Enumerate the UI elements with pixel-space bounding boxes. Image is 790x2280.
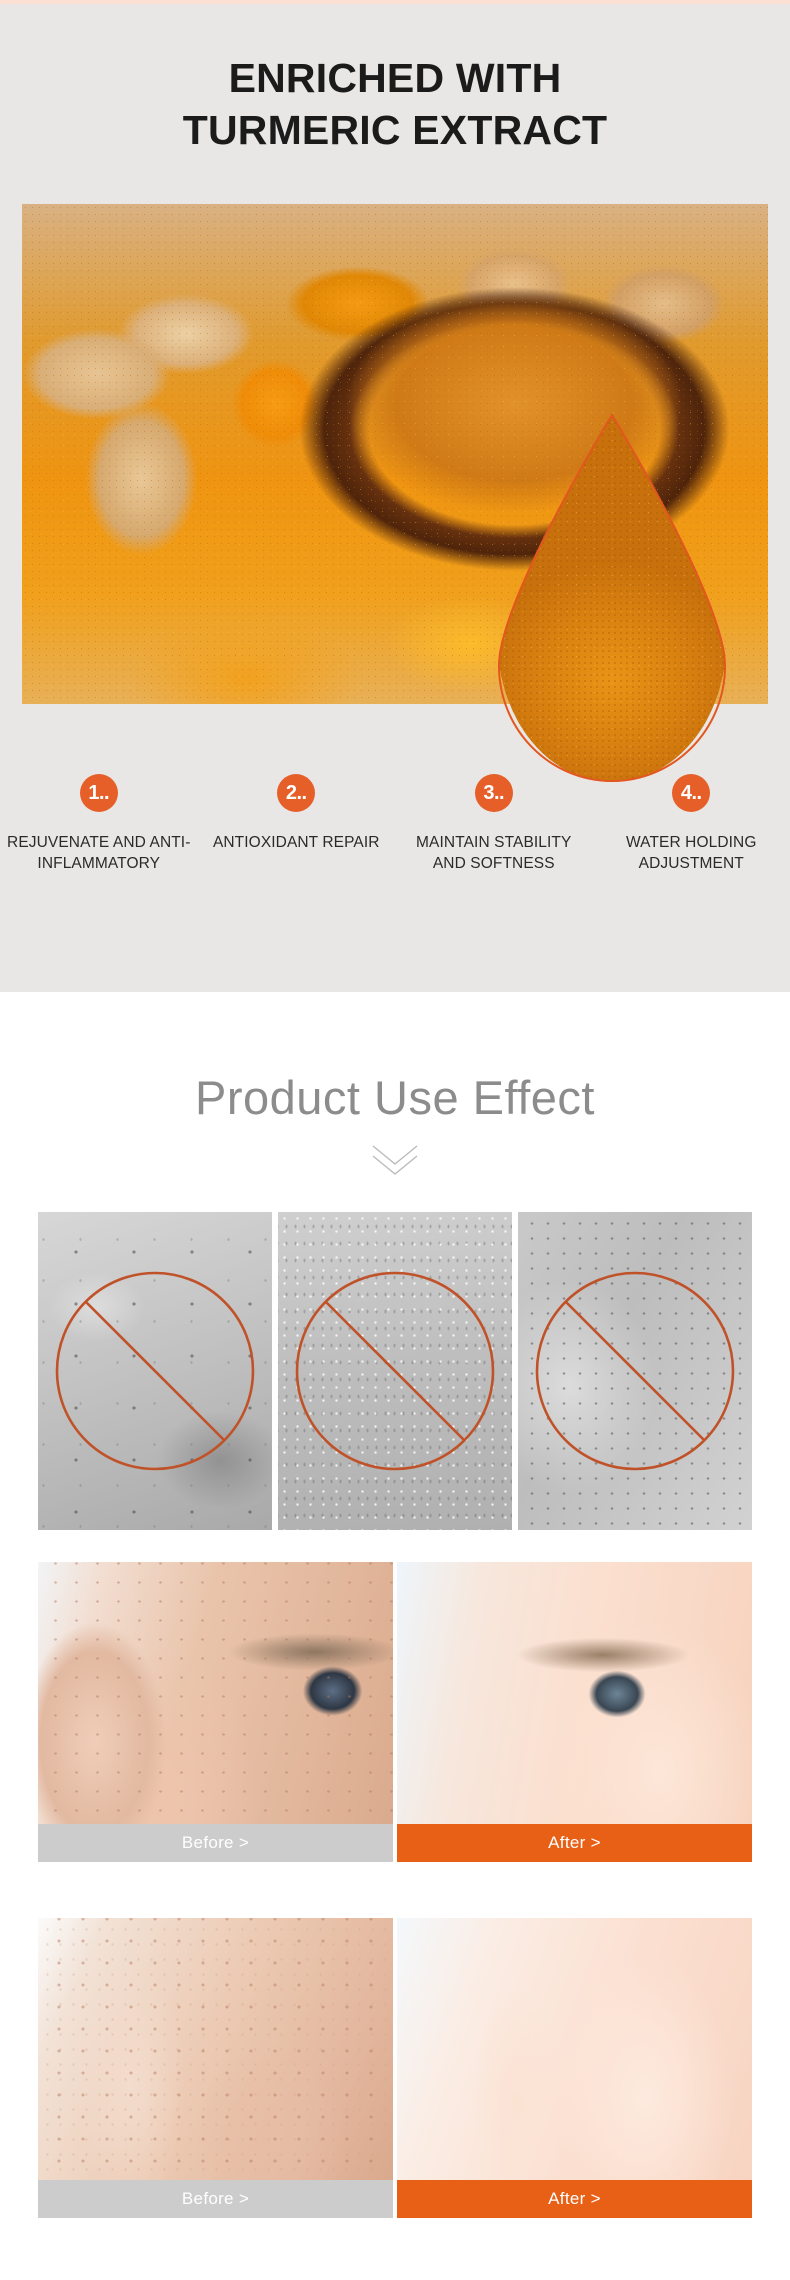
after-label-2[interactable]: After >: [397, 2180, 752, 2218]
ingredient-section: ENRICHED WITH TURMERIC EXTRACT 1.. REJUV…: [0, 4, 790, 992]
headline-line-1: ENRICHED WITH: [229, 55, 562, 101]
before-label-2[interactable]: Before >: [38, 2180, 393, 2218]
no-sign-icon: [38, 1212, 272, 1530]
no-sign-icon: [518, 1212, 752, 1530]
feature-badge-3: 3..: [475, 774, 513, 812]
before-photo-art-2: [38, 1918, 393, 2218]
after-label-1[interactable]: After >: [397, 1824, 752, 1862]
problem-image-row: [38, 1212, 752, 1530]
problem-image-2: [278, 1212, 512, 1530]
before-label-1[interactable]: Before >: [38, 1824, 393, 1862]
feature-list: 1.. REJUVENATE AND ANTI-INFLAMMATORY 2..…: [0, 774, 790, 874]
feature-label-3: MAINTAIN STABILITY AND SOFTNESS: [401, 832, 587, 874]
double-chevron-down-icon: [367, 1142, 423, 1176]
headline-line-2: TURMERIC EXTRACT: [0, 104, 790, 156]
feature-badge-4: 4..: [672, 774, 710, 812]
feature-item-1: 1.. REJUVENATE AND ANTI-INFLAMMATORY: [0, 774, 198, 874]
feature-label-4: WATER HOLDING ADJUSTMENT: [599, 832, 785, 874]
before-photo-art-1: [38, 1562, 393, 1862]
feature-item-2: 2.. ANTIOXIDANT REPAIR: [198, 774, 396, 874]
after-image-1[interactable]: After >: [397, 1562, 752, 1862]
page-title: ENRICHED WITH TURMERIC EXTRACT: [0, 52, 790, 156]
feature-item-3: 3.. MAINTAIN STABILITY AND SOFTNESS: [395, 774, 593, 874]
problem-image-1: [38, 1212, 272, 1530]
after-photo-art-2: [397, 1918, 752, 2218]
after-photo-art-1: [397, 1562, 752, 1862]
after-image-2[interactable]: After >: [397, 1918, 752, 2218]
feature-label-2: ANTIOXIDANT REPAIR: [213, 832, 380, 853]
before-image-1[interactable]: Before >: [38, 1562, 393, 1862]
comparison-row-2: Before > After >: [38, 1918, 752, 2218]
before-image-2[interactable]: Before >: [38, 1918, 393, 2218]
feature-badge-2: 2..: [277, 774, 315, 812]
product-detail-page: ENRICHED WITH TURMERIC EXTRACT 1.. REJUV…: [0, 0, 790, 2280]
feature-label-1: REJUVENATE AND ANTI-INFLAMMATORY: [6, 832, 192, 874]
problem-image-3: [518, 1212, 752, 1530]
feature-badge-1: 1..: [80, 774, 118, 812]
feature-item-4: 4.. WATER HOLDING ADJUSTMENT: [593, 774, 790, 874]
comparison-row-1: Before > After >: [38, 1562, 752, 1862]
no-sign-icon: [278, 1212, 512, 1530]
section-heading: Product Use Effect: [0, 1070, 790, 1125]
